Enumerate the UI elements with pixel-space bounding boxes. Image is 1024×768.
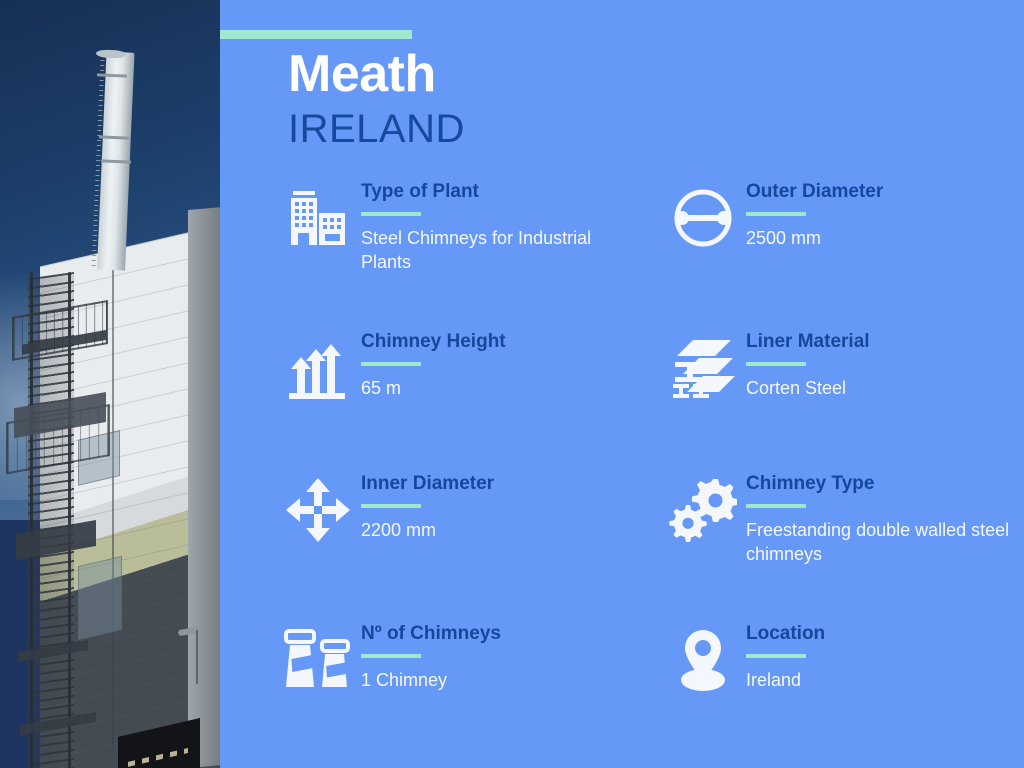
spec-text: Liner Material Corten Steel bbox=[746, 328, 870, 401]
spec-text: Type of Plant Steel Chimneys for Industr… bbox=[361, 178, 621, 274]
spec-value: 65 m bbox=[361, 377, 506, 401]
label-underline bbox=[746, 504, 806, 508]
spec-label: Inner Diameter bbox=[361, 474, 494, 495]
lamp-pole bbox=[196, 630, 198, 684]
spec-label: Liner Material bbox=[746, 332, 870, 353]
spec-label: Type of Plant bbox=[361, 182, 621, 203]
gears-icon bbox=[660, 472, 746, 548]
industrial-chimney-photo bbox=[0, 0, 220, 768]
spec-text: Outer Diameter 2500 mm bbox=[746, 178, 883, 251]
building-side-edge bbox=[188, 207, 220, 768]
spec-item-type-of-plant: Type of Plant Steel Chimneys for Industr… bbox=[275, 178, 630, 328]
spec-label: Nº of Chimneys bbox=[361, 624, 501, 645]
spec-label: Outer Diameter bbox=[746, 182, 883, 203]
spec-text: Chimney Type Freestanding double walled … bbox=[746, 470, 1015, 566]
factory-building-icon bbox=[275, 180, 361, 256]
infographic-card: Meath IRELAND bbox=[0, 0, 1024, 768]
facade-seam bbox=[112, 250, 114, 750]
up-arrows-height-icon bbox=[275, 330, 361, 406]
label-underline bbox=[361, 654, 421, 658]
label-underline bbox=[361, 362, 421, 366]
spec-text: Location Ireland bbox=[746, 620, 825, 693]
spec-value: Ireland bbox=[746, 669, 825, 693]
label-underline bbox=[361, 504, 421, 508]
spec-label: Chimney Height bbox=[361, 332, 506, 353]
spec-text: Nº of Chimneys 1 Chimney bbox=[361, 620, 501, 693]
spec-item-number-of-chimneys: Nº of Chimneys 1 Chimney bbox=[275, 620, 630, 740]
two-chimneys-icon bbox=[275, 622, 361, 698]
spec-value: Steel Chimneys for Industrial Plants bbox=[361, 227, 621, 275]
spec-item-inner-diameter: Inner Diameter 2200 mm bbox=[275, 470, 630, 620]
spec-item-chimney-type: Chimney Type Freestanding double walled … bbox=[660, 470, 1015, 620]
spec-label: Location bbox=[746, 624, 825, 645]
spec-item-liner-material: Liner Material Corten Steel bbox=[660, 328, 1015, 470]
outer-diameter-circle-icon bbox=[660, 180, 746, 256]
spec-value: 2500 mm bbox=[746, 227, 883, 251]
content-panel: Meath IRELAND bbox=[220, 0, 1024, 768]
label-underline bbox=[746, 362, 806, 366]
spec-value: Freestanding double walled steel chimney… bbox=[746, 519, 1015, 567]
four-way-arrows-icon bbox=[275, 472, 361, 548]
spec-item-chimney-height: Chimney Height 65 m bbox=[275, 328, 630, 470]
spec-value: 2200 mm bbox=[361, 519, 494, 543]
label-underline bbox=[746, 212, 806, 216]
spec-value: Corten Steel bbox=[746, 377, 870, 401]
spec-item-outer-diameter: Outer Diameter 2500 mm bbox=[660, 178, 1015, 328]
spec-text: Chimney Height 65 m bbox=[361, 328, 506, 401]
map-pin-icon bbox=[660, 622, 746, 698]
page-subtitle: IRELAND bbox=[288, 107, 465, 152]
spec-item-location: Location Ireland bbox=[660, 620, 1015, 740]
page-title: Meath bbox=[288, 44, 436, 104]
spec-text: Inner Diameter 2200 mm bbox=[361, 470, 494, 543]
accent-bar bbox=[220, 30, 412, 39]
spec-grid: Type of Plant Steel Chimneys for Industr… bbox=[275, 178, 1015, 740]
steel-beams-stack-icon bbox=[660, 330, 746, 406]
facade-window bbox=[78, 556, 122, 640]
spec-value: 1 Chimney bbox=[361, 669, 501, 693]
spec-label: Chimney Type bbox=[746, 474, 1015, 495]
label-underline bbox=[361, 212, 421, 216]
label-underline bbox=[746, 654, 806, 658]
